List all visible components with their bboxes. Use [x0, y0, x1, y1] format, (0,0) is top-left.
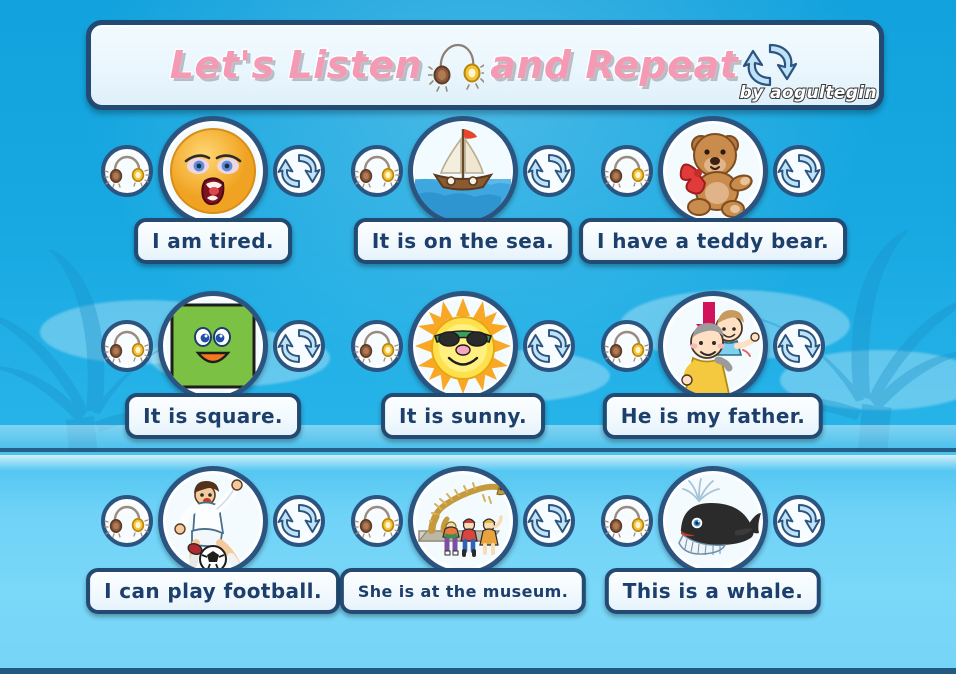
flashcard-label-father: He is my father. [603, 393, 823, 439]
whale-image [665, 473, 761, 569]
flashcard-label-sea: It is on the sea. [354, 218, 572, 264]
flashcard-controls [588, 462, 838, 580]
headphone-icon [428, 37, 484, 93]
page-title-part1: Let's Listen [170, 43, 422, 87]
flashcard-controls [88, 287, 338, 405]
flashcard-square[interactable]: It is square. [88, 287, 338, 462]
listen-button[interactable] [350, 319, 404, 373]
repeat-button[interactable] [522, 144, 576, 198]
flashcard-sentence: It is sunny. [399, 404, 527, 428]
flashcard-image-museum[interactable] [408, 466, 518, 576]
flashcard-label-square: It is square. [125, 393, 301, 439]
bottom-edge [0, 668, 956, 674]
tired-face-image [165, 123, 261, 219]
flashcard-image-square[interactable] [158, 291, 268, 401]
repeat-button[interactable] [772, 319, 826, 373]
flashcard-row: I can play football. She is at the museu [0, 462, 956, 637]
listen-button[interactable] [350, 144, 404, 198]
flashcard-label-teddy: I have a teddy bear. [579, 218, 847, 264]
sailboat-image [415, 123, 511, 219]
flashcard-image-sea[interactable] [408, 116, 518, 226]
listen-button[interactable] [600, 494, 654, 548]
flashcard-sentence: I am tired. [152, 229, 274, 253]
row-spacer [0, 112, 88, 287]
row-spacer [0, 287, 88, 462]
flashcard-teddy[interactable]: I have a teddy bear. [588, 112, 838, 287]
flashcard-label-tired: I am tired. [134, 218, 292, 264]
repeat-button[interactable] [272, 319, 326, 373]
flashcard-label-football: I can play football. [86, 568, 340, 614]
father-child-image [665, 298, 761, 394]
flashcard-image-tired[interactable] [158, 116, 268, 226]
listen-button[interactable] [100, 319, 154, 373]
flashcard-label-whale: This is a whale. [605, 568, 821, 614]
flashcard-controls [88, 112, 338, 230]
flashcard-tired[interactable]: I am tired. [88, 112, 338, 287]
repeat-button[interactable] [772, 494, 826, 548]
flashcard-museum[interactable]: She is at the museum. [338, 462, 588, 637]
flashcard-controls [588, 287, 838, 405]
repeat-button[interactable] [522, 319, 576, 373]
flashcard-row: It is square. It is sunny. [0, 287, 956, 462]
repeat-button[interactable] [272, 494, 326, 548]
sun-image [415, 298, 511, 394]
flashcard-father[interactable]: He is my father. [588, 287, 838, 462]
flashcard-row: I am tired. It is on the sea. I have a t… [0, 112, 956, 287]
title-banner-content: Let's Listen and Repeat [91, 25, 879, 105]
listen-button[interactable] [100, 144, 154, 198]
flashcard-image-sunny[interactable] [408, 291, 518, 401]
flashcard-label-museum: She is at the museum. [340, 568, 586, 614]
flashcard-label-sunny: It is sunny. [381, 393, 545, 439]
flashcard-image-football[interactable] [158, 466, 268, 576]
flashcard-football[interactable]: I can play football. [88, 462, 338, 637]
repeat-button[interactable] [272, 144, 326, 198]
flashcard-controls [88, 462, 338, 580]
flashcard-sunny[interactable]: It is sunny. [338, 287, 588, 462]
flashcard-sentence: It is square. [143, 404, 283, 428]
byline: by aogultegin [740, 83, 877, 103]
repeat-button[interactable] [772, 144, 826, 198]
footballer-image [165, 473, 261, 569]
flashcard-sentence: She is at the museum. [358, 582, 568, 601]
row-spacer [0, 462, 88, 637]
flashcard-grid: I am tired. It is on the sea. I have a t… [0, 112, 956, 637]
flashcard-controls [338, 287, 588, 405]
flashcard-sentence: This is a whale. [623, 579, 803, 603]
listen-button[interactable] [600, 144, 654, 198]
flashcard-sentence: It is on the sea. [372, 229, 554, 253]
repeat-button[interactable] [522, 494, 576, 548]
flashcard-sea[interactable]: It is on the sea. [338, 112, 588, 287]
flashcard-sentence: I have a teddy bear. [597, 229, 829, 253]
flashcard-image-teddy[interactable] [658, 116, 768, 226]
flashcard-sentence: He is my father. [621, 404, 805, 428]
flashcard-controls [338, 462, 588, 580]
listen-button[interactable] [600, 319, 654, 373]
listen-button[interactable] [100, 494, 154, 548]
museum-dinosaur-image [415, 473, 511, 569]
page-title-part2: and Repeat [490, 43, 738, 87]
flashcard-controls [588, 112, 838, 230]
title-banner: Let's Listen and Repeat [86, 20, 884, 110]
flashcard-sentence: I can play football. [104, 579, 322, 603]
listen-button[interactable] [350, 494, 404, 548]
green-square-image [168, 301, 258, 391]
flashcard-controls [338, 112, 588, 230]
flashcard-whale[interactable]: This is a whale. [588, 462, 838, 637]
flashcard-image-whale[interactable] [658, 466, 768, 576]
flashcard-image-father[interactable] [658, 291, 768, 401]
teddy-bear-image [665, 123, 761, 219]
